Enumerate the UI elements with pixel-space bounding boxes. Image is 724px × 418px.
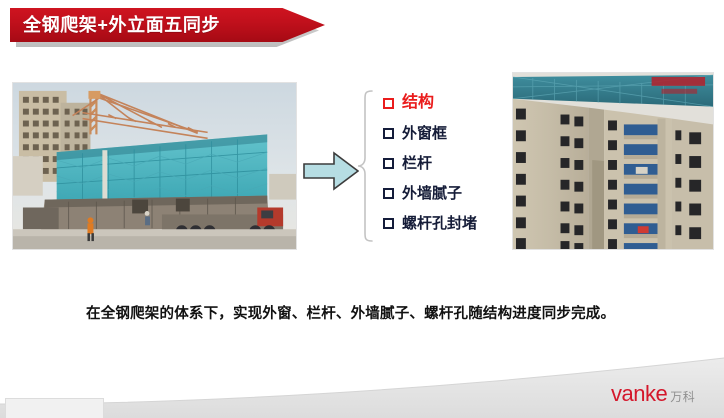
page-title: 全钢爬架+外立面五同步 (10, 16, 220, 34)
square-bullet-icon (383, 158, 394, 169)
brand-name-cjk: 万科 (670, 391, 695, 403)
list-item-railing[interactable]: 栏杆 (383, 148, 533, 178)
list-item-label: 结构 (402, 95, 434, 111)
square-bullet-icon (383, 188, 394, 199)
square-bullet-icon (383, 128, 394, 139)
footer-left-tab (5, 398, 104, 418)
flow-arrow-right-icon (303, 151, 359, 191)
highrise-facade-illustration (513, 73, 713, 249)
vanke-brand-logo: vanke 万科 (611, 383, 695, 405)
list-curly-brace (357, 90, 373, 242)
slide-title-banner: 全钢爬架+外立面五同步 (10, 8, 325, 42)
list-item-label: 螺杆孔封堵 (402, 216, 477, 231)
process-item-list: 结构 外窗框 栏杆 外墙腻子 螺杆孔封堵 (383, 88, 533, 238)
list-item-label: 外窗框 (402, 126, 447, 141)
flow-arrow-shape (303, 151, 359, 191)
title-banner-plate: 全钢爬架+外立面五同步 (10, 8, 325, 42)
list-item-label: 栏杆 (402, 156, 432, 171)
slide-canvas: 全钢爬架+外立面五同步 (0, 0, 724, 418)
construction-site-scaffold-photo (12, 82, 297, 250)
highrise-facade-photo (512, 72, 714, 250)
list-item-exterior-putty[interactable]: 外墙腻子 (383, 178, 533, 208)
square-bullet-icon (383, 98, 394, 109)
list-item-label: 外墙腻子 (402, 186, 462, 201)
square-bullet-icon (383, 218, 394, 229)
curly-brace-shape (357, 90, 373, 242)
brand-name-latin: vanke (611, 383, 667, 405)
construction-site-illustration (13, 83, 296, 249)
slide-caption: 在全钢爬架的体系下，实现外窗、栏杆、外墙腻子、螺杆孔随结构进度同步完成。 (56, 304, 664, 325)
list-item-structure[interactable]: 结构 (383, 88, 533, 118)
list-item-window-frame[interactable]: 外窗框 (383, 118, 533, 148)
list-item-bolt-hole-sealing[interactable]: 螺杆孔封堵 (383, 208, 533, 238)
